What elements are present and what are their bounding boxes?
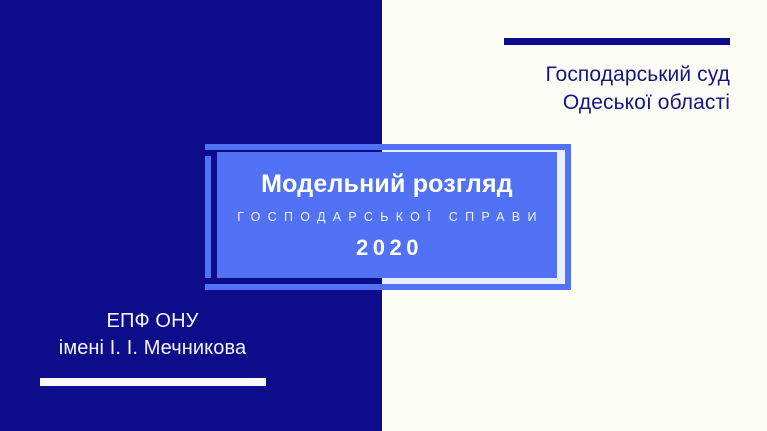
event-title-card: Модельний розгляд ГОСПОДАРСЬКОЇ СПРАВИ 2… bbox=[205, 144, 571, 290]
court-name-block: Господарський суд Одеської області bbox=[430, 38, 730, 116]
card-frame-navy-bottom bbox=[205, 278, 382, 284]
event-title: Модельний розгляд bbox=[261, 170, 513, 199]
organizer-rule bbox=[40, 378, 266, 386]
event-year: 2020 bbox=[351, 235, 423, 261]
event-subtitle: ГОСПОДАРСЬКОЇ СПРАВИ bbox=[230, 210, 543, 224]
organizer-line-1: ЕПФ ОНУ bbox=[20, 308, 285, 335]
court-name-line-2: Одеської області bbox=[430, 89, 730, 117]
title-slide: Господарський суд Одеської області Модел… bbox=[0, 0, 767, 431]
organizer-block: ЕПФ ОНУ імені І. І. Мечникова bbox=[20, 308, 285, 386]
organizer-line-2: імені І. І. Мечникова bbox=[20, 335, 285, 362]
court-name-rule bbox=[504, 38, 730, 45]
court-name-line-1: Господарський суд bbox=[430, 61, 730, 89]
card-content: Модельний розгляд ГОСПОДАРСЬКОЇ СПРАВИ 2… bbox=[217, 152, 557, 278]
